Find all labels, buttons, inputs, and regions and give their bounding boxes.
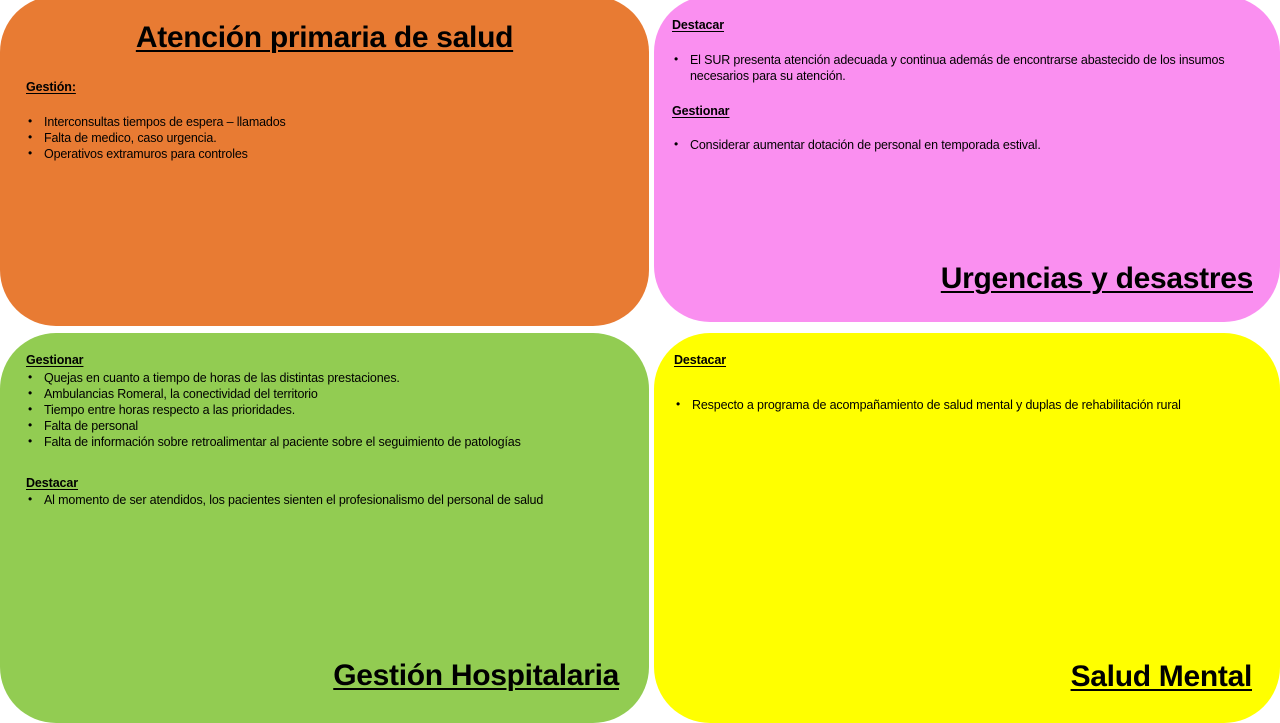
list-item: Falta de información sobre retroalimenta… bbox=[26, 434, 625, 450]
list-item: Operativos extramuros para controles bbox=[26, 146, 625, 162]
bullet-list-emergencies-highlight: El SUR presenta atención adecuada y cont… bbox=[672, 52, 1256, 84]
list-item: El SUR presenta atención adecuada y cont… bbox=[672, 52, 1256, 84]
heading-destacar: Destacar bbox=[674, 353, 1256, 369]
panel-primary-care[interactable]: Atención primaria de salud Gestión: Inte… bbox=[0, 0, 649, 326]
bullet-list-hospital-highlight: Al momento de ser atendidos, los pacient… bbox=[26, 492, 625, 508]
spacer bbox=[672, 121, 1256, 137]
panel-emergencies[interactable]: Destacar El SUR presenta atención adecua… bbox=[654, 0, 1280, 322]
heading-destacar: Destacar bbox=[672, 18, 1256, 34]
spacer bbox=[674, 371, 1256, 397]
list-item: Al momento de ser atendidos, los pacient… bbox=[26, 492, 625, 508]
panel-title-emergencies: Urgencias y desastres bbox=[941, 262, 1253, 296]
bullet-list-primary-care: Interconsultas tiempos de espera – llama… bbox=[26, 114, 625, 162]
panel-body-mental-health: Destacar Respecto a programa de acompaña… bbox=[654, 333, 1280, 413]
spacer bbox=[672, 36, 1256, 52]
heading-gestionar: Gestionar bbox=[672, 104, 1256, 120]
list-item: Interconsultas tiempos de espera – llama… bbox=[26, 114, 625, 130]
panel-hospital-management[interactable]: Gestionar Quejas en cuanto a tiempo de h… bbox=[0, 333, 649, 723]
panel-title-mental-health: Salud Mental bbox=[1071, 660, 1252, 694]
panel-title-hospital-management: Gestión Hospitalaria bbox=[333, 659, 619, 693]
panel-mental-health[interactable]: Destacar Respecto a programa de acompaña… bbox=[654, 333, 1280, 723]
panel-body-emergencies: Destacar El SUR presenta atención adecua… bbox=[654, 0, 1280, 153]
list-item: Respecto a programa de acompañamiento de… bbox=[674, 397, 1256, 413]
list-item: Quejas en cuanto a tiempo de horas de la… bbox=[26, 370, 625, 386]
list-item: Considerar aumentar dotación de personal… bbox=[672, 137, 1256, 153]
panel-body-primary-care: Gestión: Interconsultas tiempos de esper… bbox=[0, 0, 649, 162]
slide-canvas: Atención primaria de salud Gestión: Inte… bbox=[0, 0, 1280, 720]
heading-destacar: Destacar bbox=[26, 476, 625, 492]
list-item: Tiempo entre horas respecto a las priori… bbox=[26, 402, 625, 418]
panel-body-hospital-management: Gestionar Quejas en cuanto a tiempo de h… bbox=[0, 333, 649, 508]
bullet-list-emergencies-manage: Considerar aumentar dotación de personal… bbox=[672, 137, 1256, 153]
heading-gestion: Gestión: bbox=[26, 80, 625, 96]
spacer bbox=[26, 450, 625, 476]
list-item: Ambulancias Romeral, la conectividad del… bbox=[26, 386, 625, 402]
list-item: Falta de personal bbox=[26, 418, 625, 434]
list-item: Falta de medico, caso urgencia. bbox=[26, 130, 625, 146]
spacer bbox=[26, 98, 625, 114]
heading-gestionar: Gestionar bbox=[26, 353, 625, 369]
bullet-list-mental-health: Respecto a programa de acompañamiento de… bbox=[674, 397, 1256, 413]
spacer bbox=[672, 84, 1256, 104]
bullet-list-hospital-manage: Quejas en cuanto a tiempo de horas de la… bbox=[26, 370, 625, 450]
